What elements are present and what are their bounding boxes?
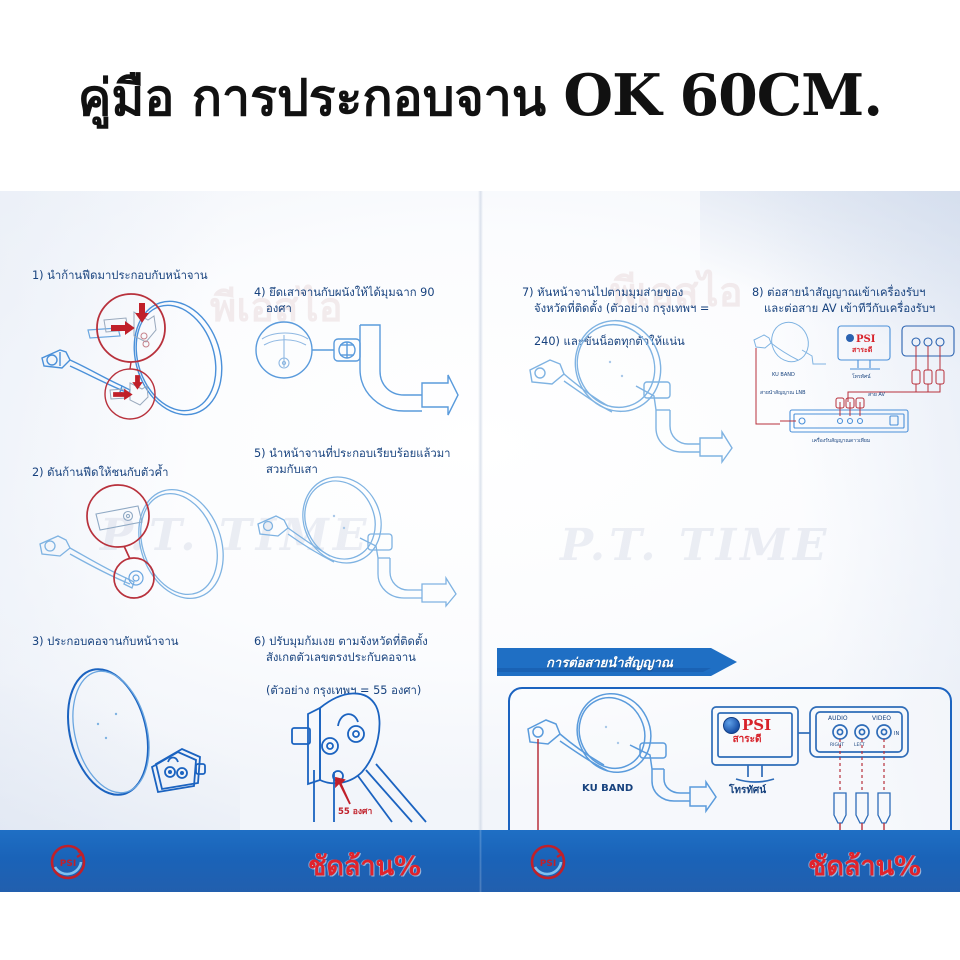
svg-text:RIGHT: RIGHT [830, 742, 844, 748]
svg-text:สาระดี: สาระดี [852, 346, 873, 354]
step-8-line-1: 8) ต่อสายนำสัญญาณเข้าเครื่องรับฯ [752, 286, 926, 299]
psi-logo-icon-right: PSI [528, 842, 568, 882]
svg-text:IN: IN [894, 731, 899, 737]
wiring-section-banner: การต่อสายนำสัญญาณ [497, 648, 737, 676]
svg-text:LEFT: LEFT [854, 742, 865, 748]
step-4-illustration [252, 315, 462, 420]
svg-text:โทรทัศน์: โทรทัศน์ [852, 373, 871, 380]
step-1-text: 1) นำก้านฟีดมาประกอบกับหน้าจาน [32, 268, 242, 285]
step-1-illustration [26, 290, 251, 425]
svg-text:PSI: PSI [856, 334, 876, 345]
watermark-right: P.T. TIME [560, 520, 830, 571]
wiring-diagram-svg: LNB RF VIDEO LEFT RIGHT [510, 689, 946, 830]
page-fold-line [478, 190, 483, 830]
svg-text:สายนำสัญญาณ LNB: สายนำสัญญาณ LNB [760, 390, 806, 396]
footer-half-left: PSI ชัดล้าน% [0, 830, 480, 892]
tv-av-input-panel [798, 707, 908, 757]
page-title-band: คู่มือ การประกอบจาน OK 60CM. [0, 0, 960, 190]
step-4-line-1: 4) ยึดเสาจานกับผนังให้ได้มุมฉาก 90 [254, 286, 435, 299]
step-5-line-1: 5) นำหน้าจานที่ประกอบเรียบร้อยแล้วมา [254, 447, 451, 460]
step-5-illustration [250, 472, 465, 607]
page-title-model: OK 60CM. [563, 62, 882, 129]
psi-logo-thai: สาระดี [733, 735, 762, 745]
step-7-line-1: 7) หันหน้าจานไปตามมุมส่ายของ [522, 286, 683, 299]
page-title: คู่มือ การประกอบจาน OK 60CM. [78, 67, 882, 124]
psi-logo-icon-left: PSI [48, 842, 88, 882]
step-6-illustration [262, 684, 477, 824]
footer-banner: PSI ชัดล้าน% PSI ชัดล้าน% [0, 830, 960, 892]
footer-slogan-right: ชัดล้าน% [808, 844, 921, 887]
svg-text:สาย AV: สาย AV [868, 392, 885, 398]
wiring-section-banner-label: การต่อสายนำสัญญาณ [497, 648, 722, 676]
manual-page: คู่มือ การประกอบจาน OK 60CM. P.T. TIME P… [0, 0, 960, 960]
step-8-illustration: KU BAND PSI สาระดี โทรทัศน์ [740, 316, 960, 446]
svg-text:AUDIO: AUDIO [828, 715, 848, 722]
wiring-diagram-panel: LNB RF VIDEO LEFT RIGHT [508, 687, 952, 830]
svg-text:PSI: PSI [540, 859, 556, 869]
elevation-angle-annotation: 55 องศา [338, 804, 372, 818]
lnb-cable [538, 739, 554, 830]
tv-screen-psi-logo: PSI สาระดี [723, 717, 771, 745]
step-6-line-1: 6) ปรับมุมก้มเงย ตามจังหวัดที่ติดตั้ง [254, 635, 428, 648]
svg-text:เครื่องรับสัญญาณดาวเทียม: เครื่องรับสัญญาณดาวเทียม [812, 437, 870, 444]
step-2-illustration [26, 482, 251, 607]
psi-logo-letters: PSI [742, 718, 771, 733]
page-title-thai: คู่มือ การประกอบจาน [78, 69, 546, 127]
rca-plugs-tv [840, 739, 884, 793]
step-3-illustration [30, 652, 245, 812]
svg-text:VIDEO: VIDEO [872, 715, 891, 722]
svg-text:KU BAND: KU BAND [772, 372, 795, 378]
svg-text:PSI: PSI [60, 859, 76, 869]
scanned-manual-sheet: P.T. TIME P.T. TIME พีเอสไอ พีเอสไอ 1) น… [0, 190, 960, 830]
svg-text:โทรทัศน์: โทรทัศน์ [728, 783, 766, 796]
step-7-line-2: จังหวัดที่ติดตั้ง (ตัวอย่าง กรุงเทพฯ = [522, 301, 737, 318]
psi-globe-icon [723, 717, 740, 734]
svg-text:KU BAND: KU BAND [582, 783, 633, 794]
step-3-text: 3) ประกอบคอจานกับหน้าจาน [32, 634, 242, 651]
step-7-illustration [518, 318, 738, 468]
step-2-text: 2) ดันก้านฟีดให้ชนกับตัวค้ำ [32, 465, 242, 482]
bottom-white-margin [0, 892, 960, 960]
footer-half-right: PSI ชัดล้าน% [480, 830, 960, 892]
footer-slogan-left: ชัดล้าน% [308, 844, 421, 887]
sheet-top-edge [0, 186, 960, 191]
step-6-line-2: สังเกตตัวเลขตรงประกับคอจาน [254, 650, 472, 667]
